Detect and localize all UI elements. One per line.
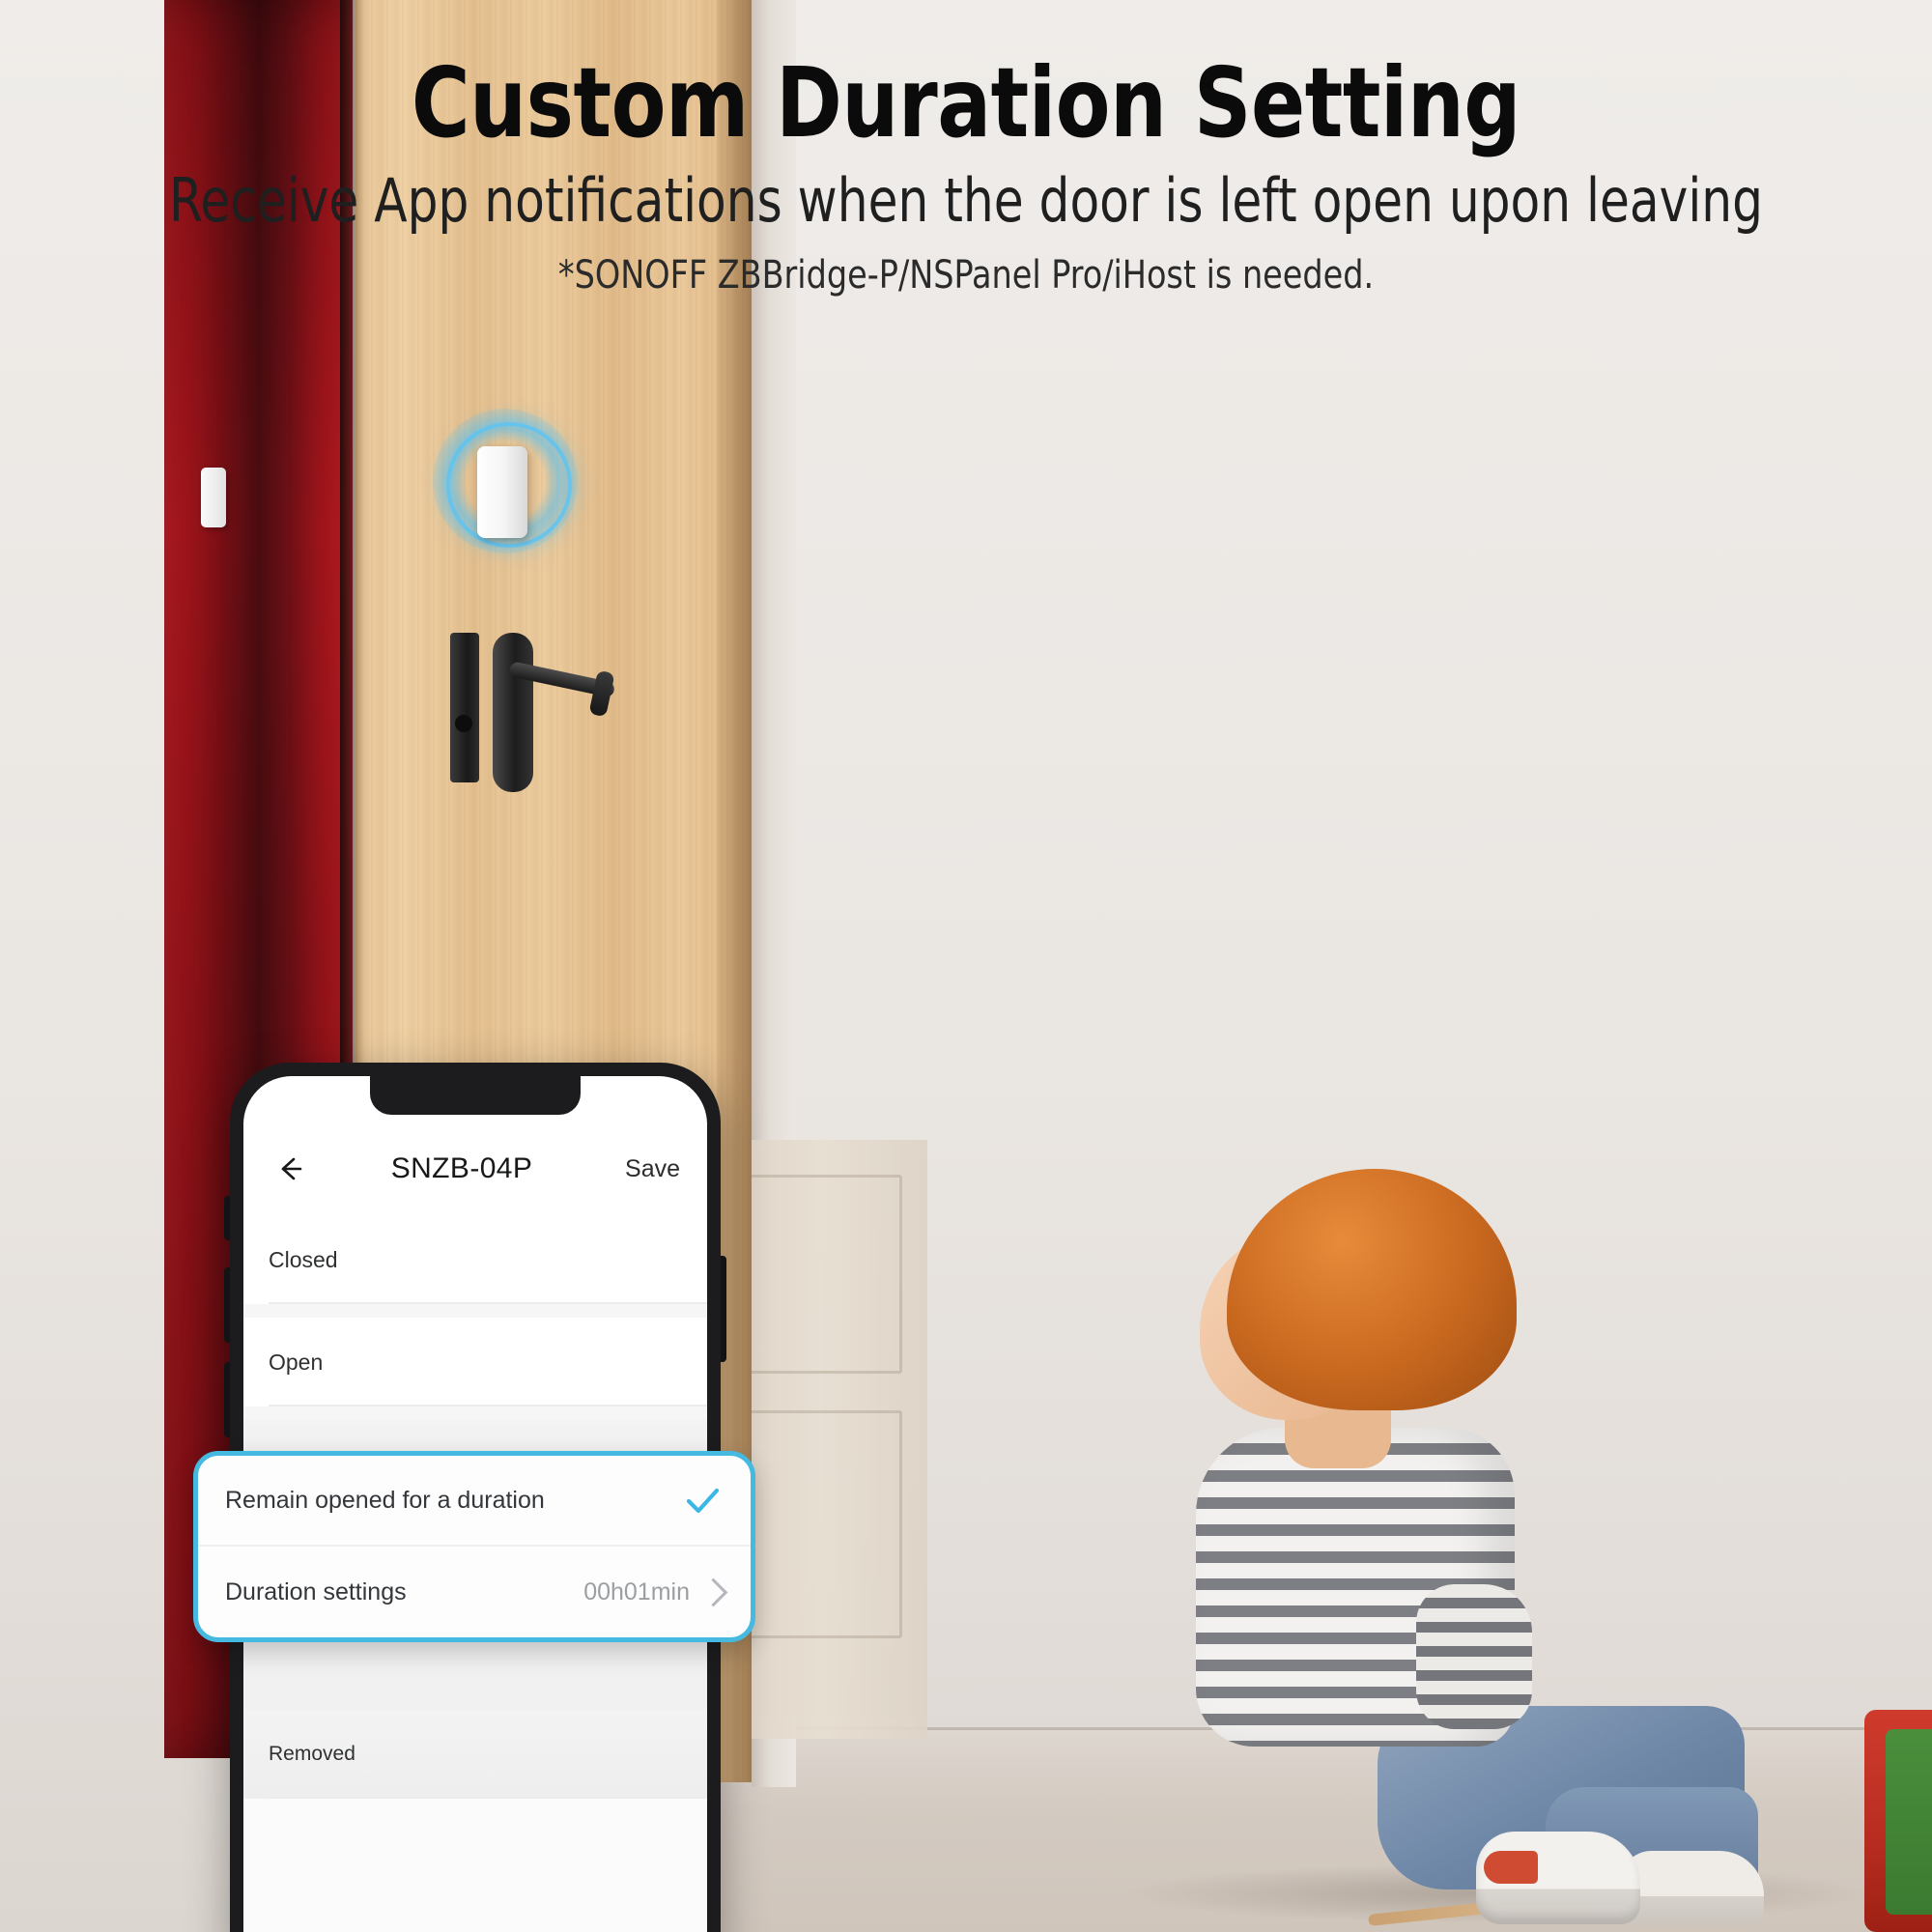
option-label: Remain opened for a duration	[225, 1487, 681, 1515]
list-item-removed[interactable]: Removed	[243, 1710, 707, 1799]
child-arm	[1416, 1584, 1532, 1729]
app-header: SNZB-04P Save	[243, 1122, 707, 1215]
child-figure	[1140, 1169, 1835, 1932]
save-button[interactable]: Save	[612, 1155, 680, 1183]
list-divider	[243, 1406, 707, 1420]
list-item-open[interactable]: Open	[243, 1318, 707, 1406]
page-subtitle: Receive App notifications when the door …	[97, 166, 1835, 235]
child-hair	[1227, 1169, 1517, 1410]
check-icon	[681, 1479, 724, 1521]
duration-settings-label: Duration settings	[225, 1578, 583, 1606]
list-item-label: Closed	[269, 1247, 338, 1273]
page-title: Custom Duration Setting	[77, 52, 1855, 155]
list-item-label: Removed	[269, 1743, 355, 1766]
door-sensor-icon	[477, 446, 527, 538]
list-item-label: Open	[269, 1350, 323, 1376]
chevron-right-icon	[699, 1577, 728, 1606]
duration-settings-row[interactable]: Duration settings 00h01min	[198, 1547, 751, 1637]
page-header-title: SNZB-04P	[311, 1152, 612, 1185]
door-magnet-icon	[201, 468, 226, 527]
duration-settings-value: 00h01min	[583, 1578, 690, 1606]
list-empty-area	[243, 1799, 707, 1932]
toy-box-inner	[1886, 1729, 1932, 1915]
highlighted-option-card: Remain opened for a duration Duration se…	[193, 1451, 755, 1642]
inner-door-panel	[742, 1410, 902, 1638]
door-handle-base	[493, 633, 533, 792]
headings-block: Custom Duration Setting Receive App noti…	[0, 52, 1932, 298]
product-marketing-image: Custom Duration Setting Receive App noti…	[0, 0, 1932, 1932]
list-item-closed[interactable]: Closed	[243, 1215, 707, 1304]
child-shoe-back	[1619, 1851, 1764, 1926]
compatibility-note: *SONOFF ZBBridge-P/NSPanel Pro/iHost is …	[68, 252, 1864, 298]
phone-notch	[370, 1076, 581, 1115]
door-lock-plate	[450, 633, 479, 782]
option-remain-opened[interactable]: Remain opened for a duration	[198, 1456, 751, 1547]
inner-door-panel	[742, 1175, 902, 1374]
back-arrow-icon[interactable]	[270, 1149, 311, 1189]
door-keyhole-icon	[455, 715, 472, 732]
child-shoe-accent	[1484, 1851, 1538, 1884]
list-divider	[243, 1304, 707, 1318]
